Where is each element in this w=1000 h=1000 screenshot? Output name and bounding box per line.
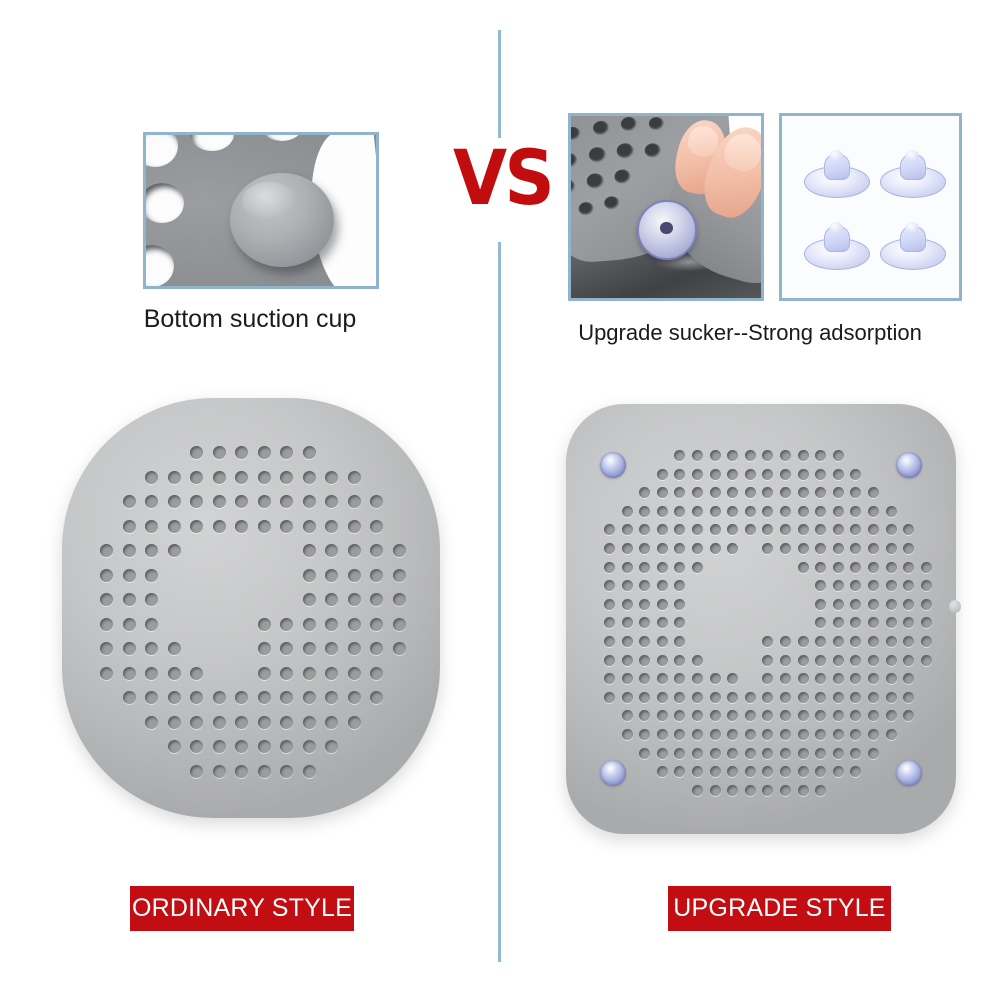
drain-hole <box>745 450 756 461</box>
drain-hole <box>692 450 703 461</box>
drain-hole <box>850 617 861 628</box>
drain-hole <box>815 469 826 480</box>
drain-hole <box>303 667 316 680</box>
drain-hole <box>348 667 361 680</box>
drain-hole <box>235 740 248 753</box>
drain-hole <box>674 469 685 480</box>
drain-hole <box>780 655 791 666</box>
drain-hole <box>710 729 721 740</box>
drain-hole <box>833 487 844 498</box>
drain-hole <box>674 487 685 498</box>
drain-hole <box>850 580 861 591</box>
drain-hole <box>235 495 248 508</box>
drain-hole <box>604 692 615 703</box>
drain-hole <box>168 520 181 533</box>
drain-hole <box>639 562 650 573</box>
drain-hole <box>168 667 181 680</box>
drain-hole <box>657 692 668 703</box>
drain-hole <box>780 729 791 740</box>
drain-hole <box>657 766 668 777</box>
drain-hole <box>692 469 703 480</box>
drain-hole <box>710 710 721 721</box>
drain-hole <box>145 642 158 655</box>
hole-grid-ordinary <box>62 398 440 818</box>
drain-hole <box>710 506 721 517</box>
drain-hole <box>798 450 809 461</box>
drain-hole <box>780 785 791 796</box>
drain-hole <box>325 642 338 655</box>
drain-hole <box>674 450 685 461</box>
drain-hole <box>886 562 897 573</box>
drain-hole <box>727 543 738 554</box>
drain-hole <box>833 524 844 535</box>
drain-hole <box>886 617 897 628</box>
drain-hole <box>850 692 861 703</box>
drain-hole <box>604 543 615 554</box>
drain-hole <box>727 673 738 684</box>
drain-hole <box>833 710 844 721</box>
drain-hole <box>815 599 826 610</box>
drain-hole <box>303 471 316 484</box>
suction-cup <box>804 224 868 270</box>
drain-hole <box>745 524 756 535</box>
mat-hole <box>616 143 634 159</box>
drain-hole <box>145 593 158 606</box>
drain-hole <box>190 446 203 459</box>
drain-hole <box>325 471 338 484</box>
drain-hole <box>780 524 791 535</box>
drain-hole <box>674 562 685 573</box>
drain-hole <box>762 673 773 684</box>
drain-hole <box>190 495 203 508</box>
drain-hole <box>657 636 668 647</box>
drain-hole <box>190 667 203 680</box>
drain-hole <box>921 562 932 573</box>
edge-tab-nub <box>949 600 961 613</box>
drain-hole <box>745 692 756 703</box>
drain-hole <box>798 655 809 666</box>
drain-hole <box>745 766 756 777</box>
drain-hole <box>190 691 203 704</box>
drain-hole <box>886 524 897 535</box>
drain-hole <box>303 691 316 704</box>
drain-hole <box>886 655 897 666</box>
drain-hole <box>886 506 897 517</box>
corner-suction-cup <box>600 760 626 786</box>
drain-hole <box>123 667 136 680</box>
drain-hole <box>168 740 181 753</box>
thumbnail-bottom-suction-cup <box>143 132 379 289</box>
drain-hole <box>727 710 738 721</box>
mat-hole <box>578 202 594 216</box>
drain-hole <box>604 617 615 628</box>
drain-hole <box>657 617 668 628</box>
drain-hole <box>168 691 181 704</box>
suction-cup-attached <box>637 200 697 260</box>
drain-hole <box>325 716 338 729</box>
drain-hole <box>657 487 668 498</box>
drain-hole <box>798 636 809 647</box>
drain-hole <box>168 495 181 508</box>
drain-hole <box>639 543 650 554</box>
drain-hole <box>622 506 633 517</box>
drain-hole <box>190 471 203 484</box>
drain-hole <box>213 765 226 778</box>
drain-hole <box>674 748 685 759</box>
drain-hole <box>145 520 158 533</box>
drain-hole <box>393 569 406 582</box>
drain-hole <box>850 710 861 721</box>
drain-hole <box>123 495 136 508</box>
drain-hole <box>692 785 703 796</box>
drain-hole <box>903 599 914 610</box>
mat-hole <box>644 143 661 158</box>
drain-hole <box>280 642 293 655</box>
drain-hole <box>798 506 809 517</box>
drain-hole <box>903 617 914 628</box>
drain-hole <box>303 618 316 631</box>
drain-hole <box>798 766 809 777</box>
drain-hole <box>235 446 248 459</box>
drain-hole <box>710 487 721 498</box>
drain-hole <box>727 469 738 480</box>
drain-hole <box>886 673 897 684</box>
drain-hole <box>213 495 226 508</box>
banner-upgrade-style: UPGRADE STYLE <box>668 886 891 931</box>
drain-hole <box>903 543 914 554</box>
drain-hole <box>710 673 721 684</box>
drain-hole <box>622 599 633 610</box>
drain-hole <box>727 729 738 740</box>
drain-hole <box>833 543 844 554</box>
drain-hole <box>833 450 844 461</box>
corner-suction-cup <box>896 760 922 786</box>
mat-hole <box>571 179 576 194</box>
drain-hole <box>815 487 826 498</box>
drain-hole <box>280 471 293 484</box>
drain-hole <box>145 716 158 729</box>
drain-hole <box>280 667 293 680</box>
drain-hole <box>168 642 181 655</box>
drain-hole <box>815 748 826 759</box>
drain-hole <box>815 506 826 517</box>
drain-hole <box>868 580 879 591</box>
drain-hole <box>325 520 338 533</box>
suction-cup-knob <box>829 150 843 162</box>
drain-hole <box>303 446 316 459</box>
drain-hole <box>833 506 844 517</box>
drain-hole <box>235 471 248 484</box>
drain-hole <box>780 710 791 721</box>
drain-hole <box>780 543 791 554</box>
drain-hole <box>674 766 685 777</box>
drain-hole <box>798 487 809 498</box>
drain-hole <box>604 655 615 666</box>
suction-cup-knob <box>829 222 843 234</box>
drain-hole <box>886 543 897 554</box>
mat-hole <box>604 196 620 210</box>
drain-hole <box>868 655 879 666</box>
drain-hole <box>798 562 809 573</box>
drain-hole <box>622 729 633 740</box>
drain-hole <box>780 636 791 647</box>
drain-hole <box>674 655 685 666</box>
drain-hole <box>604 636 615 647</box>
drain-hole <box>639 729 650 740</box>
drain-hole <box>657 469 668 480</box>
drain-hole <box>762 469 773 480</box>
drain-hole <box>886 580 897 591</box>
drain-hole <box>727 450 738 461</box>
mat-hole <box>571 126 581 140</box>
drain-hole <box>692 543 703 554</box>
product-ordinary-drain-cover <box>62 398 440 818</box>
drain-hole <box>393 642 406 655</box>
drain-hole <box>639 487 650 498</box>
drain-hole <box>710 748 721 759</box>
drain-hole <box>868 636 879 647</box>
drain-hole <box>213 716 226 729</box>
drain-hole <box>868 524 879 535</box>
drain-hole <box>815 543 826 554</box>
drain-hole <box>622 673 633 684</box>
drain-hole <box>850 729 861 740</box>
drain-hole <box>303 716 316 729</box>
drain-hole <box>622 692 633 703</box>
drain-hole <box>798 729 809 740</box>
drain-hole <box>258 765 271 778</box>
drain-hole <box>325 740 338 753</box>
drain-hole <box>762 487 773 498</box>
drain-hole <box>710 543 721 554</box>
drain-hole <box>833 617 844 628</box>
drain-hole <box>325 593 338 606</box>
product-upgrade-drain-cover <box>566 404 956 834</box>
drain-hole <box>921 636 932 647</box>
drain-hole <box>815 524 826 535</box>
drain-hole <box>657 729 668 740</box>
drain-hole <box>303 544 316 557</box>
drain-hole <box>674 692 685 703</box>
drain-hole <box>370 593 383 606</box>
drain-hole <box>745 487 756 498</box>
suction-cup-knob <box>905 150 919 162</box>
drain-hole <box>258 520 271 533</box>
drain-hole <box>868 673 879 684</box>
drain-hole <box>710 785 721 796</box>
drain-hole <box>657 710 668 721</box>
drain-hole <box>710 524 721 535</box>
drain-hole <box>727 506 738 517</box>
drain-hole <box>727 766 738 777</box>
drain-hole <box>213 471 226 484</box>
drain-hole <box>798 710 809 721</box>
thumbnail-hand-lifting-mat <box>568 113 764 301</box>
drain-hole <box>190 716 203 729</box>
drain-hole <box>100 544 113 557</box>
mat-hole <box>614 169 631 184</box>
drain-hole <box>657 655 668 666</box>
drain-hole <box>868 543 879 554</box>
drain-hole <box>868 729 879 740</box>
drain-hole <box>674 673 685 684</box>
drain-hole <box>393 544 406 557</box>
drain-hole <box>657 543 668 554</box>
drain-hole <box>639 506 650 517</box>
drain-hole <box>692 766 703 777</box>
drain-hole <box>639 580 650 591</box>
drain-hole <box>604 562 615 573</box>
drain-hole <box>850 469 861 480</box>
drain-hole <box>145 471 158 484</box>
drain-hole <box>692 655 703 666</box>
suction-cup <box>880 224 944 270</box>
drain-hole <box>833 599 844 610</box>
drain-hole <box>762 710 773 721</box>
thumbnail-image-suction-macro <box>146 135 376 286</box>
drain-hole <box>370 544 383 557</box>
drain-hole <box>622 710 633 721</box>
drain-hole <box>325 667 338 680</box>
drain-hole <box>657 599 668 610</box>
drain-hole <box>348 691 361 704</box>
drain-hole <box>604 524 615 535</box>
drain-hole <box>745 729 756 740</box>
drain-hole <box>674 617 685 628</box>
drain-hole <box>604 580 615 591</box>
drain-hole <box>100 618 113 631</box>
drain-hole <box>850 599 861 610</box>
drain-hole <box>903 710 914 721</box>
drain-hole <box>213 520 226 533</box>
drain-hole <box>674 599 685 610</box>
drain-hole <box>622 524 633 535</box>
drain-hole <box>258 618 271 631</box>
drain-hole <box>303 642 316 655</box>
drain-hole <box>639 748 650 759</box>
drain-hole <box>280 446 293 459</box>
drain-hole <box>280 765 293 778</box>
thumbnail-four-suction-cups <box>779 113 962 301</box>
drain-hole <box>657 524 668 535</box>
suction-cup-knob <box>905 222 919 234</box>
drain-hole <box>886 692 897 703</box>
drain-hole <box>303 593 316 606</box>
drain-hole <box>921 617 932 628</box>
drain-hole <box>280 740 293 753</box>
drain-hole <box>303 765 316 778</box>
drain-hole <box>850 524 861 535</box>
drain-hole <box>921 655 932 666</box>
mat-hole <box>588 147 606 163</box>
drain-hole <box>213 446 226 459</box>
drain-hole <box>348 716 361 729</box>
drain-hole <box>235 716 248 729</box>
drain-hole <box>123 691 136 704</box>
drain-hole <box>762 766 773 777</box>
drain-hole <box>674 524 685 535</box>
drain-hole <box>815 580 826 591</box>
drain-hole <box>639 524 650 535</box>
drain-hole <box>190 740 203 753</box>
drain-hole <box>780 692 791 703</box>
drain-hole <box>348 618 361 631</box>
drain-hole <box>258 691 271 704</box>
drain-hole <box>235 520 248 533</box>
drain-hole <box>692 673 703 684</box>
drain-hole <box>780 748 791 759</box>
drain-hole <box>657 562 668 573</box>
drain-hole <box>280 618 293 631</box>
drain-hole <box>780 450 791 461</box>
drain-hole <box>903 673 914 684</box>
drain-hole <box>780 766 791 777</box>
drain-hole <box>190 520 203 533</box>
drain-hole <box>348 471 361 484</box>
drain-hole <box>692 506 703 517</box>
drain-hole <box>886 599 897 610</box>
drain-hole <box>815 636 826 647</box>
drain-hole <box>303 569 316 582</box>
drain-hole <box>213 691 226 704</box>
drain-hole <box>145 569 158 582</box>
drain-hole <box>710 450 721 461</box>
drain-hole <box>868 506 879 517</box>
drain-hole <box>710 692 721 703</box>
drain-hole <box>657 506 668 517</box>
drain-hole <box>886 729 897 740</box>
drain-hole <box>258 667 271 680</box>
drain-hole <box>727 748 738 759</box>
drain-hole <box>145 691 158 704</box>
drain-hole <box>280 716 293 729</box>
drain-hole <box>921 599 932 610</box>
drain-hole <box>325 544 338 557</box>
drain-hole <box>798 524 809 535</box>
drain-hole <box>798 748 809 759</box>
drain-hole <box>622 617 633 628</box>
drain-hole <box>798 469 809 480</box>
drain-hole <box>280 495 293 508</box>
drain-hole <box>745 748 756 759</box>
drain-hole <box>850 543 861 554</box>
suction-cup <box>804 152 868 198</box>
drain-hole <box>762 655 773 666</box>
drain-hole <box>657 748 668 759</box>
drain-hole <box>325 569 338 582</box>
drain-hole <box>727 785 738 796</box>
drain-hole <box>850 487 861 498</box>
drain-hole <box>639 710 650 721</box>
drain-hole <box>190 765 203 778</box>
molded-suction-dome <box>230 173 334 267</box>
drain-hole <box>903 692 914 703</box>
drain-hole <box>798 785 809 796</box>
drain-hole <box>850 766 861 777</box>
drain-hole <box>833 636 844 647</box>
drain-hole <box>258 495 271 508</box>
drain-hole <box>348 495 361 508</box>
drain-hole <box>370 691 383 704</box>
drain-hole <box>762 506 773 517</box>
mat-hole <box>586 173 604 189</box>
mat-hole <box>593 120 610 135</box>
drain-hole <box>868 487 879 498</box>
drain-hole <box>674 543 685 554</box>
drain-hole <box>868 599 879 610</box>
drain-hole <box>393 618 406 631</box>
drain-hole <box>710 766 721 777</box>
